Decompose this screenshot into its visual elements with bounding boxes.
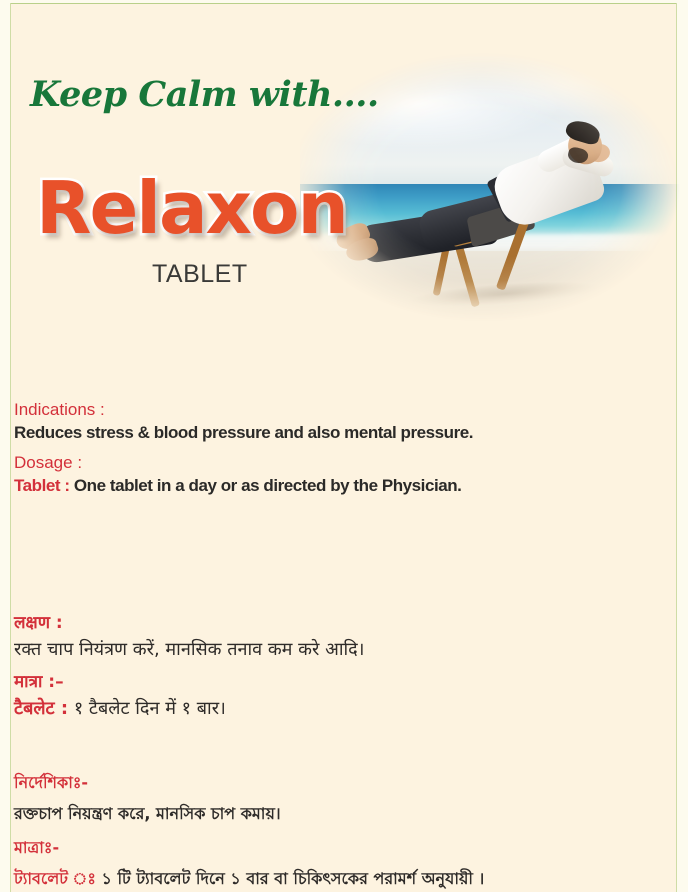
hindi-indications-text: रक्त चाप नियंत्रण करें, मानसिक तनाव कम क… <box>14 637 365 661</box>
border-left-rule <box>10 3 11 892</box>
hindi-indications-heading: लक्षण : <box>14 610 365 633</box>
leaflet-page: Keep Calm with.... Relaxon TABLET Indica… <box>0 0 688 892</box>
english-dosage-label: Tablet : <box>14 476 70 495</box>
english-dosage-text: One tablet in a day or as directed by th… <box>74 476 462 495</box>
bengali-dosage-label: ট্যাবলেট ঃ <box>14 869 96 888</box>
hindi-dosage-text: १ टैबलेट दिन में १ बार। <box>74 698 226 719</box>
section-hindi: लक्षण : रक्त चाप नियंत्रण करें, मानसिक त… <box>14 610 365 728</box>
brand-subtitle: TABLET <box>152 260 248 289</box>
hindi-dosage-line: टैबलेट : १ टैबलेट दिन में १ बार। <box>14 696 365 720</box>
english-dosage-heading: Dosage : <box>14 453 473 473</box>
english-indications-heading: Indications : <box>14 400 473 420</box>
hindi-dosage-label: टैबलेट : <box>14 698 68 719</box>
bengali-indications-text: রক্তচাপ নিয়ন্ত্রণ করে, মানসিক চাপ কমায়… <box>14 801 484 828</box>
english-indications-text: Reduces stress & blood pressure and also… <box>14 423 473 443</box>
bengali-dosage-line: ট্যাবলেট ঃ ১ টি ট্যাবলেট দিনে ১ বার বা চ… <box>14 866 484 892</box>
hindi-dosage-heading: मात्रा :– <box>14 669 365 692</box>
section-english: Indications : Reduces stress & blood pre… <box>14 400 473 506</box>
bengali-dosage-text: ১ টি ট্যাবলেট দিনে ১ বার বা চিকিৎসকের পর… <box>102 869 485 888</box>
bengali-dosage-heading: মাত্রাঃ- <box>14 835 484 862</box>
border-top-rule <box>10 3 677 4</box>
tagline: Keep Calm with.... <box>30 74 379 115</box>
bengali-indications-heading: নির্দেশিকাঃ- <box>14 770 484 797</box>
english-dosage-line: Tablet : One tablet in a day or as direc… <box>14 476 473 496</box>
brand-name: Relaxon <box>36 166 347 250</box>
section-bengali: নির্দেশিকাঃ- রক্তচাপ নিয়ন্ত্রণ করে, মান… <box>14 770 484 892</box>
